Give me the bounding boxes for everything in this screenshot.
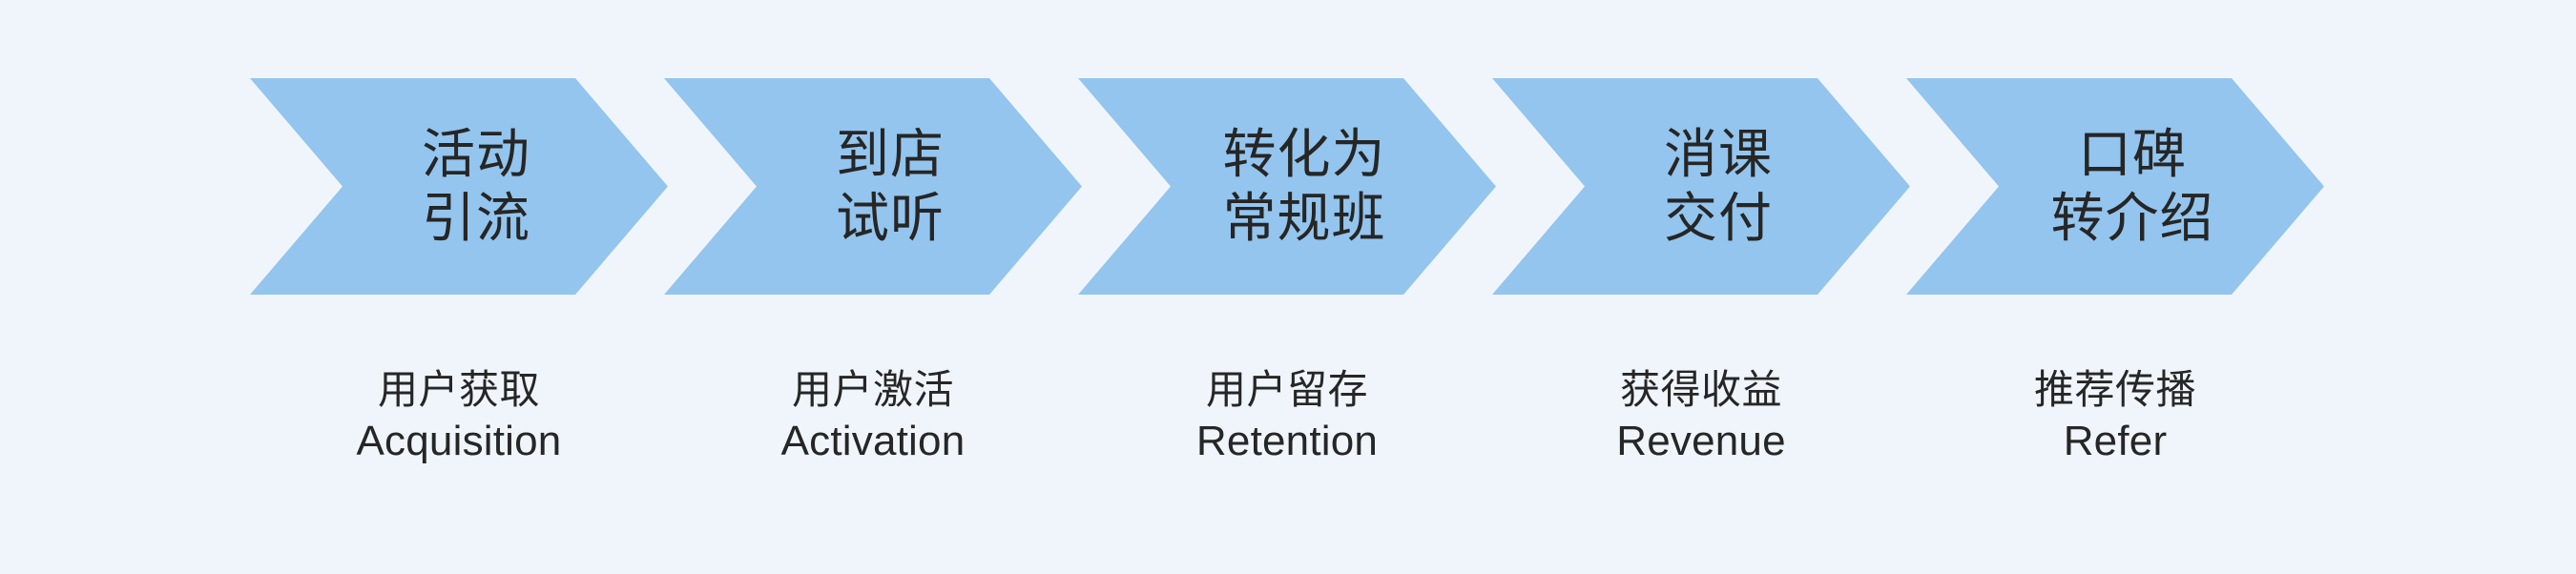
chevron-label-2: 到店 试听 <box>757 78 1024 295</box>
stage-caption-3-cn: 用户留存 <box>1206 364 1368 415</box>
chevron-label-4-line2: 交付 <box>1664 187 1773 251</box>
stage-caption-4-cn: 获得收益 <box>1620 364 1782 415</box>
chevron-label-4-line1: 消课 <box>1664 123 1773 187</box>
stage-caption-2-en: Activation <box>781 415 966 468</box>
chevron-label-5: 口碑 转介绍 <box>1999 78 2266 295</box>
chevron-label-1-line1: 活动 <box>422 123 530 187</box>
chevron-label-1: 活动 引流 <box>343 78 610 295</box>
chevron-label-1-line2: 引流 <box>422 187 530 251</box>
chevron-label-4: 消课 交付 <box>1585 78 1852 295</box>
funnel-stage-4[interactable]: 消课 交付 <box>1492 78 1910 295</box>
stage-caption-3: 用户留存 Retention <box>1078 364 1496 469</box>
funnel-stage-5[interactable]: 口碑 转介绍 <box>1906 78 2324 295</box>
chevron-label-5-line1: 口碑 <box>2078 123 2187 187</box>
stage-caption-2-cn: 用户激活 <box>792 364 954 415</box>
stage-caption-4-en: Revenue <box>1616 415 1786 468</box>
stage-caption-4: 获得收益 Revenue <box>1492 364 1910 469</box>
stage-caption-1: 用户获取 Acquisition <box>250 364 668 469</box>
stage-caption-5-en: Refer <box>2064 415 2168 468</box>
funnel-stage-3[interactable]: 转化为 常规班 <box>1078 78 1496 295</box>
stage-caption-5-cn: 推荐传播 <box>2034 364 2196 415</box>
chevron-label-3-line2: 常规班 <box>1223 187 1386 251</box>
funnel-stage-1[interactable]: 活动 引流 <box>250 78 668 295</box>
chevron-label-2-line1: 到店 <box>836 123 945 187</box>
funnel-stage-2[interactable]: 到店 试听 <box>664 78 1082 295</box>
stage-caption-1-en: Acquisition <box>357 415 562 468</box>
aarrr-funnel-diagram: 活动 引流 到店 试听 转化为 常规班 消课 交付 口碑 转介绍 用户获取 <box>0 0 2576 574</box>
chevron-label-3-line1: 转化为 <box>1223 123 1386 187</box>
chevron-label-3: 转化为 常规班 <box>1171 78 1438 295</box>
chevron-label-2-line2: 试听 <box>836 187 945 251</box>
stage-caption-1-cn: 用户获取 <box>378 364 540 415</box>
stage-caption-3-en: Retention <box>1196 415 1378 468</box>
stage-caption-2: 用户激活 Activation <box>664 364 1082 469</box>
stage-caption-5: 推荐传播 Refer <box>1906 364 2324 469</box>
chevron-label-5-line2: 转介绍 <box>2051 187 2214 251</box>
